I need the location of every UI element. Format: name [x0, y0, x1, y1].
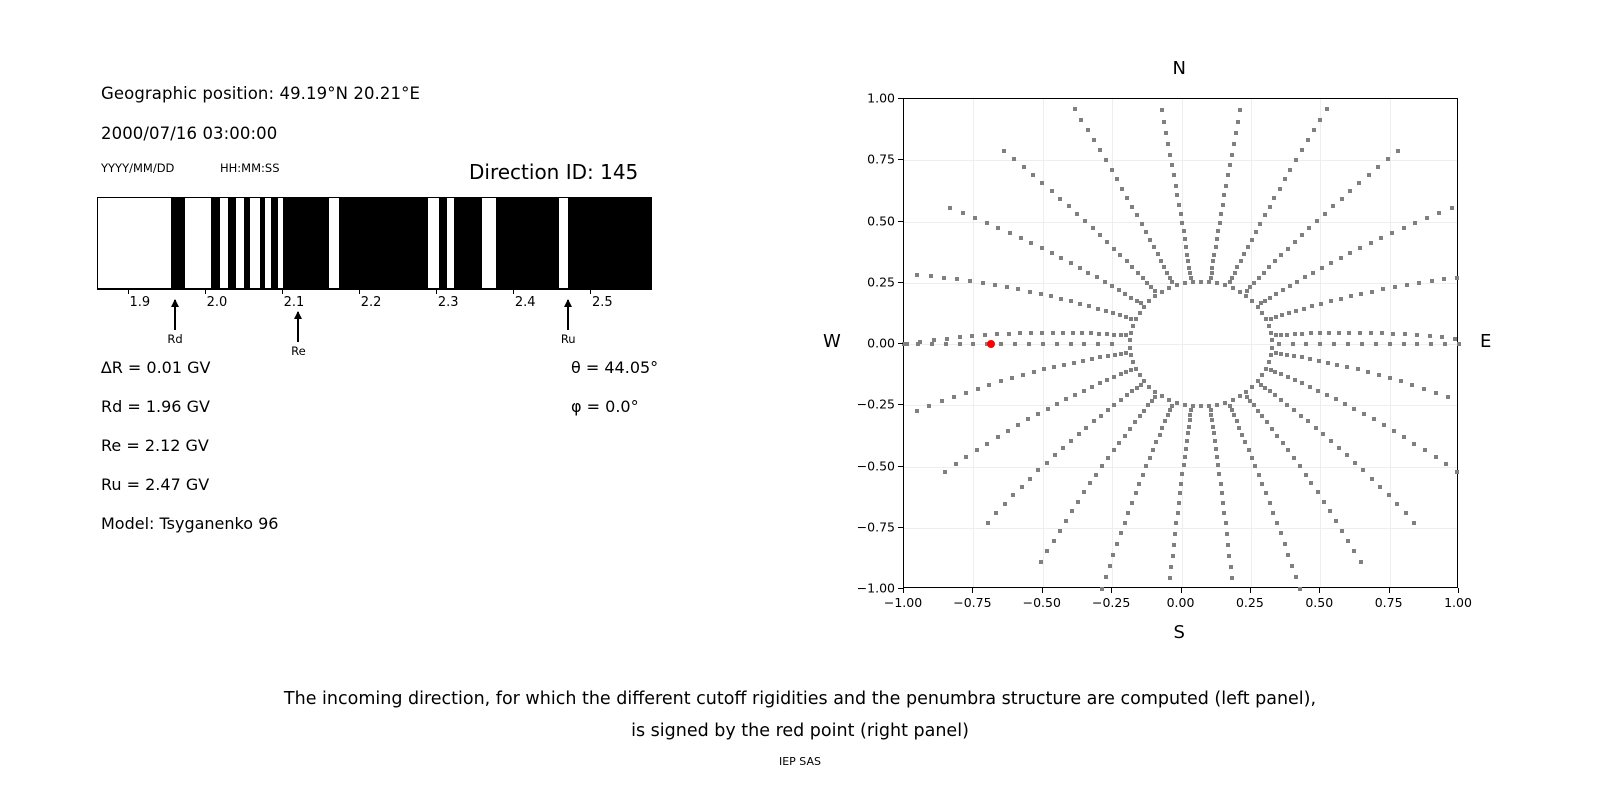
- direction-point: [1329, 261, 1333, 265]
- direction-point: [1118, 313, 1122, 317]
- direction-point: [930, 342, 934, 346]
- direction-point: [1092, 138, 1096, 142]
- direction-point: [1138, 373, 1142, 377]
- direction-point: [1392, 429, 1396, 433]
- direction-point: [1269, 368, 1273, 372]
- direction-point: [1042, 367, 1046, 371]
- direction-point: [1229, 565, 1233, 569]
- direction-point: [1090, 357, 1094, 361]
- direction-point: [1268, 501, 1272, 505]
- direction-point: [1082, 342, 1086, 346]
- direction-point: [1230, 408, 1234, 412]
- rigidity-marker-label: Re: [291, 344, 306, 358]
- direction-point: [985, 442, 989, 446]
- param-phi: φ = 0.0°: [571, 397, 639, 416]
- direction-point: [1046, 407, 1050, 411]
- direction-point: [1279, 253, 1283, 257]
- direction-point: [1050, 251, 1054, 255]
- direction-point: [1187, 266, 1191, 270]
- direction-point: [1352, 407, 1356, 411]
- direction-point: [1337, 446, 1341, 450]
- axis-tick-label: 2.4: [515, 295, 536, 310]
- direction-point: [1240, 433, 1244, 437]
- direction-point: [1098, 355, 1102, 359]
- direction-point: [1221, 203, 1225, 207]
- direction-point: [1099, 414, 1103, 418]
- footer-credit: IEP SAS: [0, 755, 1600, 768]
- direction-point: [1304, 473, 1308, 477]
- direction-point: [1410, 383, 1414, 387]
- direction-point: [1405, 283, 1409, 287]
- direction-point: [1248, 285, 1252, 289]
- direction-point: [955, 277, 959, 281]
- direction-point: [1129, 368, 1133, 372]
- direction-point: [1242, 252, 1246, 256]
- direction-point: [1444, 462, 1448, 466]
- direction-point: [1134, 491, 1138, 495]
- direction-point: [954, 462, 958, 466]
- direction-point: [996, 435, 1000, 439]
- direction-point: [1106, 408, 1110, 412]
- direction-point: [958, 342, 962, 346]
- direction-point: [1051, 331, 1055, 335]
- direction-point: [1318, 342, 1322, 346]
- direction-point: [1090, 385, 1094, 389]
- direction-point: [1348, 189, 1352, 193]
- direction-point: [1129, 317, 1133, 321]
- compass-label-east: E: [1480, 331, 1491, 352]
- direction-point: [1172, 173, 1176, 177]
- rigidity-marker-label: Rd: [167, 332, 182, 346]
- direction-point: [1219, 212, 1223, 216]
- direction-point: [1380, 331, 1384, 335]
- direction-point: [1144, 464, 1148, 468]
- direction-point: [1455, 470, 1459, 474]
- direction-point: [1153, 294, 1157, 298]
- direction-point: [1314, 426, 1318, 430]
- direction-id-label: Direction ID: 145: [469, 160, 638, 184]
- direction-point: [1100, 587, 1104, 591]
- direction-point: [916, 342, 920, 346]
- direction-point: [1220, 491, 1224, 495]
- direction-point: [1358, 246, 1362, 250]
- direction-point: [1388, 376, 1392, 380]
- direction-point: [1309, 331, 1313, 335]
- direction-point: [1218, 221, 1222, 225]
- direction-point: [1412, 442, 1416, 446]
- direction-point: [1310, 304, 1314, 308]
- direction-point: [1215, 237, 1219, 241]
- direction-point: [1167, 398, 1171, 402]
- penumbra-black-band: [171, 198, 185, 288]
- direction-point: [1298, 587, 1302, 591]
- direction-point: [1188, 413, 1192, 417]
- direction-point: [1222, 193, 1226, 197]
- direction-point: [1323, 212, 1327, 216]
- direction-point: [976, 387, 980, 391]
- direction-point: [1111, 311, 1115, 315]
- direction-point: [1369, 241, 1373, 245]
- direction-point: [1160, 426, 1164, 430]
- direction-sky-map[interactable]: [903, 98, 1458, 588]
- direction-point: [973, 216, 977, 220]
- direction-point: [971, 342, 975, 346]
- gridline-horizontal: [904, 467, 1457, 468]
- direction-point: [1029, 241, 1033, 245]
- direction-point: [1308, 385, 1312, 389]
- direction-point: [1061, 446, 1065, 450]
- direction-point: [1393, 285, 1397, 289]
- direction-point: [1173, 532, 1177, 536]
- direction-point: [1256, 409, 1260, 413]
- direction-point: [1119, 531, 1123, 535]
- penumbra-black-band: [211, 198, 219, 288]
- direction-point: [1147, 385, 1151, 389]
- direction-point: [1309, 481, 1313, 485]
- direction-point: [1298, 464, 1302, 468]
- direction-point: [1058, 197, 1062, 201]
- gridline-vertical: [1251, 99, 1252, 587]
- direction-point: [961, 211, 965, 215]
- direction-point: [1179, 212, 1183, 216]
- direction-point: [1402, 435, 1406, 439]
- compass-label-south: S: [1174, 622, 1185, 643]
- x-axis-tick-label: 0.00: [1167, 595, 1195, 610]
- direction-point: [1300, 233, 1304, 237]
- direction-point: [1131, 324, 1135, 328]
- penumbra-black-band: [496, 198, 559, 288]
- direction-point: [1306, 138, 1310, 142]
- direction-point: [1156, 252, 1160, 256]
- direction-point: [1128, 346, 1132, 350]
- direction-point: [1105, 240, 1109, 244]
- param-theta: θ = 44.05°: [571, 358, 658, 377]
- direction-point: [1006, 429, 1010, 433]
- direction-point: [1260, 373, 1264, 377]
- x-axis-tick: [1319, 588, 1320, 593]
- y-axis-tick-label: −0.50: [845, 458, 895, 473]
- direction-point: [1285, 353, 1289, 357]
- direction-point: [1376, 165, 1380, 169]
- x-axis-tick: [1250, 588, 1251, 593]
- direction-point: [1214, 245, 1218, 249]
- direction-point: [1264, 491, 1268, 495]
- direction-point: [1130, 501, 1134, 505]
- direction-point: [1413, 221, 1417, 225]
- direction-point: [1059, 256, 1063, 260]
- direction-point: [1238, 290, 1242, 294]
- direction-point: [1082, 389, 1086, 393]
- direction-point: [1016, 287, 1020, 291]
- direction-point: [1440, 335, 1444, 339]
- direction-point: [952, 395, 956, 399]
- direction-point: [1403, 332, 1407, 336]
- direction-point: [1119, 352, 1123, 356]
- direction-point: [1199, 280, 1203, 284]
- direction-point: [1002, 149, 1006, 153]
- penumbra-black-band: [439, 198, 447, 288]
- selected-direction-point[interactable]: [987, 340, 995, 348]
- direction-point: [1264, 367, 1268, 371]
- direction-point: [1300, 332, 1304, 336]
- direction-point: [1253, 464, 1257, 468]
- direction-point: [1083, 219, 1087, 223]
- y-axis-tick-label: 0.50: [845, 213, 895, 228]
- direction-point: [1311, 271, 1315, 275]
- direction-point: [1137, 482, 1141, 486]
- direction-point: [1396, 149, 1400, 153]
- direction-point: [1010, 376, 1014, 380]
- direction-point: [1069, 299, 1073, 303]
- y-axis-tick-label: −0.25: [845, 397, 895, 412]
- direction-point: [1166, 142, 1170, 146]
- direction-point: [1215, 281, 1219, 285]
- direction-point: [1232, 142, 1236, 146]
- direction-point: [1076, 500, 1080, 504]
- direction-point: [1142, 305, 1146, 309]
- direction-point: [1165, 271, 1169, 275]
- direction-point: [1270, 427, 1274, 431]
- direction-point: [1225, 532, 1229, 536]
- direction-point: [1081, 359, 1085, 363]
- direction-point: [1210, 271, 1214, 275]
- direction-point: [1112, 375, 1116, 379]
- direction-point: [1124, 370, 1128, 374]
- direction-point: [1212, 253, 1216, 257]
- direction-point: [1178, 491, 1182, 495]
- direction-point: [1319, 302, 1323, 306]
- direction-point: [1307, 226, 1311, 230]
- direction-point: [964, 391, 968, 395]
- y-axis-tick: [898, 159, 903, 160]
- direction-point: [1290, 564, 1294, 568]
- direction-point: [1072, 361, 1076, 365]
- direction-point: [1163, 419, 1167, 423]
- direction-point: [1268, 389, 1272, 393]
- direction-point: [1078, 266, 1082, 270]
- direction-point: [1011, 493, 1015, 497]
- direction-point: [1096, 307, 1100, 311]
- direction-point: [1049, 294, 1053, 298]
- direction-point: [1230, 576, 1234, 580]
- direction-point: [1279, 531, 1283, 535]
- direction-point: [1245, 289, 1249, 293]
- direction-point: [1142, 409, 1146, 413]
- axis-tick: [513, 289, 514, 294]
- direction-point: [1027, 342, 1031, 346]
- direction-point: [1306, 419, 1310, 423]
- compass-label-west: W: [823, 331, 841, 352]
- arrow-head-icon: [171, 299, 179, 307]
- direction-point: [1280, 313, 1284, 317]
- direction-point: [1362, 412, 1366, 416]
- direction-point: [1028, 290, 1032, 294]
- direction-point: [1133, 420, 1137, 424]
- direction-point: [1005, 285, 1009, 289]
- direction-point: [1142, 379, 1146, 383]
- rigidity-marker-label: Ru: [561, 332, 576, 346]
- direction-point: [1128, 427, 1132, 431]
- direction-point: [1235, 265, 1239, 269]
- direction-point: [1158, 433, 1162, 437]
- direction-point: [1402, 342, 1406, 346]
- direction-point: [1211, 425, 1215, 429]
- caption-line-2: is signed by the red point (right panel): [0, 715, 1600, 747]
- direction-point: [1300, 355, 1304, 359]
- direction-point: [983, 333, 987, 337]
- direction-point: [1273, 370, 1277, 374]
- direction-point: [1134, 367, 1138, 371]
- direction-point: [1185, 253, 1189, 257]
- direction-point: [1188, 271, 1192, 275]
- direction-point: [1402, 226, 1406, 230]
- direction-point: [1318, 118, 1322, 122]
- direction-point: [1227, 554, 1231, 558]
- direction-point: [1105, 332, 1109, 336]
- direction-point: [1207, 280, 1211, 284]
- param-model: Model: Tsyganenko 96: [101, 514, 278, 533]
- direction-point: [929, 274, 933, 278]
- direction-point: [1087, 304, 1091, 308]
- direction-point: [1086, 271, 1090, 275]
- direction-point: [1031, 173, 1035, 177]
- direction-point: [1183, 281, 1187, 285]
- direction-point: [1095, 275, 1099, 279]
- direction-point: [1283, 177, 1287, 181]
- direction-point: [1234, 131, 1238, 135]
- direction-point: [1293, 378, 1297, 382]
- direction-point: [1108, 564, 1112, 568]
- direction-point: [1267, 324, 1271, 328]
- direction-point: [1320, 266, 1324, 270]
- penumbra-black-band: [271, 198, 278, 288]
- direction-point: [1104, 309, 1108, 313]
- direction-point: [994, 511, 998, 515]
- datetime-label: 2000/07/16 03:00:00: [101, 124, 277, 143]
- direction-point: [1040, 246, 1044, 250]
- direction-point: [1008, 231, 1012, 235]
- direction-point: [985, 221, 989, 225]
- direction-point: [1308, 357, 1312, 361]
- direction-point: [1352, 549, 1356, 553]
- penumbra-black-band: [244, 198, 249, 288]
- caption-line-1: The incoming direction, for which the di…: [0, 683, 1600, 715]
- direction-point: [1442, 277, 1446, 281]
- param-re: Re = 2.12 GV: [101, 436, 209, 455]
- y-axis-tick-label: 1.00: [845, 91, 895, 106]
- direction-point: [1134, 317, 1138, 321]
- direction-point: [1216, 229, 1220, 233]
- direction-point: [1292, 354, 1296, 358]
- direction-point: [1347, 331, 1351, 335]
- axis-tick-label: 1.9: [129, 295, 150, 310]
- direction-point: [1345, 453, 1349, 457]
- gridline-horizontal: [904, 528, 1457, 529]
- direction-point: [1125, 259, 1129, 263]
- direction-point: [1123, 521, 1127, 525]
- direction-point: [1281, 441, 1285, 445]
- time-format-hint: HH:MM:SS: [220, 161, 280, 175]
- axis-tick: [436, 289, 437, 294]
- direction-point: [1070, 509, 1074, 513]
- direction-point: [1082, 490, 1086, 494]
- direction-point: [1112, 247, 1116, 251]
- direction-point: [1210, 266, 1214, 270]
- direction-point: [1018, 331, 1022, 335]
- direction-point: [1263, 386, 1267, 390]
- direction-point: [1052, 539, 1056, 543]
- direction-point: [970, 334, 974, 338]
- direction-point: [1334, 519, 1338, 523]
- direction-point: [1429, 342, 1433, 346]
- direction-point: [1262, 271, 1266, 275]
- direction-point: [1126, 511, 1130, 515]
- direction-point: [1153, 390, 1157, 394]
- direction-point: [1113, 353, 1117, 357]
- direction-point: [1425, 216, 1429, 220]
- direction-point: [1247, 448, 1251, 452]
- direction-point: [964, 455, 968, 459]
- direction-point: [1268, 296, 1272, 300]
- direction-point: [1237, 426, 1241, 430]
- direction-point: [1069, 261, 1073, 265]
- direction-point: [1022, 165, 1026, 169]
- direction-point: [1217, 472, 1221, 476]
- direction-point: [1064, 519, 1068, 523]
- direction-point: [1294, 309, 1298, 313]
- param-delta-r: ∆R = 0.01 GV: [101, 358, 210, 377]
- direction-point: [1124, 351, 1128, 355]
- direction-point: [1377, 373, 1381, 377]
- direction-point: [1258, 222, 1262, 226]
- direction-point: [1287, 311, 1291, 315]
- direction-point: [1088, 481, 1092, 485]
- direction-point: [1209, 413, 1213, 417]
- direction-point: [1129, 296, 1133, 300]
- direction-point: [1168, 153, 1172, 157]
- direction-point: [1230, 153, 1234, 157]
- direction-point: [958, 335, 962, 339]
- direction-point: [1293, 240, 1297, 244]
- direction-point: [1233, 271, 1237, 275]
- penumbra-black-band: [568, 198, 652, 288]
- direction-point: [1244, 294, 1248, 298]
- direction-point: [1064, 397, 1068, 401]
- direction-point: [1136, 271, 1140, 275]
- direction-point: [1177, 203, 1181, 207]
- direction-point: [1036, 468, 1040, 472]
- direction-point: [1265, 420, 1269, 424]
- x-axis-tick: [1389, 588, 1390, 593]
- direction-point: [1016, 423, 1020, 427]
- direction-point: [1075, 212, 1079, 216]
- direction-point: [1168, 276, 1172, 280]
- x-axis-tick-label: −0.50: [1023, 595, 1061, 610]
- x-axis-tick: [1458, 588, 1459, 593]
- direction-point: [1269, 331, 1273, 335]
- direction-point: [1089, 331, 1093, 335]
- direction-point: [1119, 333, 1123, 337]
- geographic-position-label: Geographic position: 49.19°N 20.21°E: [101, 84, 420, 103]
- direction-point: [1012, 157, 1016, 161]
- y-axis-tick: [898, 588, 903, 589]
- direction-point: [1224, 184, 1228, 188]
- x-axis-tick-label: −1.00: [884, 595, 922, 610]
- penumbra-black-band: [283, 198, 329, 288]
- direction-point: [1219, 482, 1223, 486]
- direction-point: [1378, 485, 1382, 489]
- gridline-horizontal: [904, 160, 1457, 161]
